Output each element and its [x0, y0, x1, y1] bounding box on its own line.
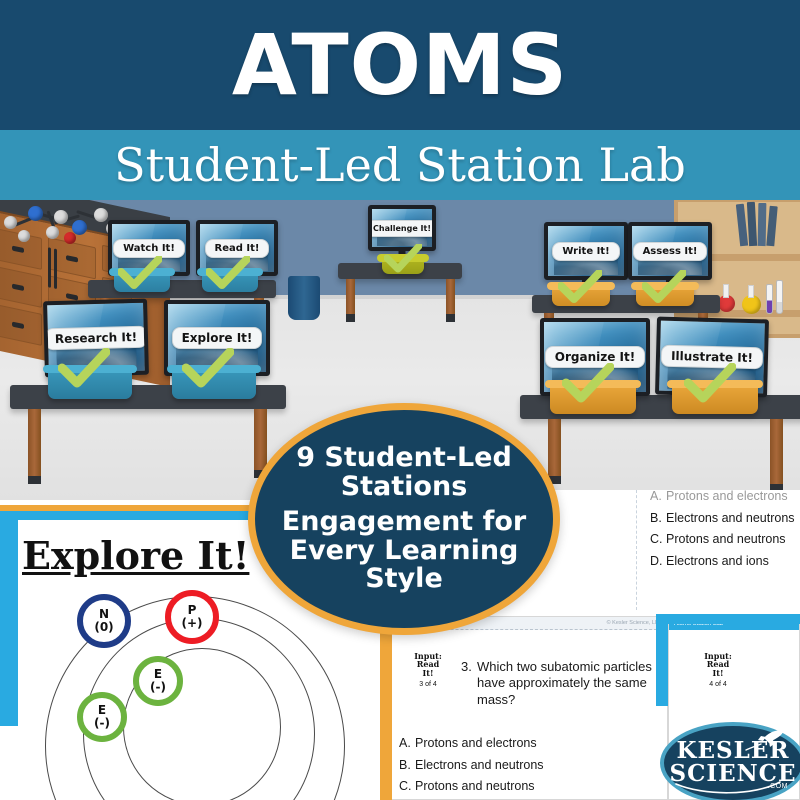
blue-accent-bar	[656, 614, 800, 624]
station-label: Challenge It!	[368, 220, 436, 237]
promo-badge: 9 Student-Led Stations Engagement for Ev…	[248, 403, 560, 635]
choice-row: A.Protons and electrons	[399, 733, 544, 755]
choices-list: A.Protons and electrons B.Electrons and …	[399, 733, 544, 800]
station-seal-badge: Input: Read It! 3 of 4	[397, 639, 459, 701]
seal-count: 3 of 4	[419, 681, 437, 688]
choice-row: B.Electrons and neutrons	[650, 508, 795, 530]
badge-line-1: 9 Student-Led Stations	[255, 444, 553, 501]
checkmark-icon	[684, 363, 736, 405]
checkmark-icon	[58, 348, 110, 390]
page-title: ATOMS	[232, 23, 568, 107]
badge-line-2: Engagement for Every Learning Style	[255, 508, 553, 594]
test-tube-purple	[766, 284, 773, 314]
particle-electron-1: E (-)	[133, 656, 183, 706]
choice-row: B.Electrons and neutrons	[399, 755, 544, 777]
particle-electron-2: E (-)	[77, 692, 127, 742]
header-subtitle-band: Student-Led Station Lab	[0, 130, 800, 200]
particle-proton: P (+)	[165, 590, 219, 644]
particle-neutron: N (0)	[77, 594, 131, 648]
station-label: Read It!	[205, 239, 270, 258]
choice-row: A.Protons and electrons	[650, 490, 795, 508]
doc-copyright: © Kesler Science, LLC	[607, 620, 662, 626]
station-seal-badge: Input: Read It! 4 of 4	[687, 639, 749, 701]
trash-can	[288, 276, 320, 320]
seal-count: 4 of 4	[709, 681, 727, 688]
choices-list: A.Protons and electrons B.Electrons and …	[650, 490, 795, 572]
station-label: Explore It!	[172, 327, 263, 349]
checkmark-icon	[642, 270, 686, 304]
question-text: Which two subatomic particles have appro…	[477, 659, 655, 708]
choice-row: C.Protons and neutrons	[399, 776, 544, 798]
kesler-science-logo: KESLER SCIENCE .COM	[660, 722, 800, 800]
station-label: Research It!	[45, 326, 148, 351]
checkmark-icon	[562, 363, 614, 405]
checkmark-icon	[182, 348, 234, 390]
question-card: Station Lab © Kesler Science, LLC Input:…	[390, 616, 668, 800]
choice-row: C.Protons and neutrons	[650, 529, 795, 551]
station-label: Assess It!	[633, 242, 708, 261]
question-number: 3.	[461, 659, 472, 674]
station-label: Watch It!	[113, 239, 185, 258]
choice-row: D.Electrons and ions	[650, 551, 795, 573]
atom-diagram: N (0) P (+) E (-) E (-)	[35, 586, 365, 800]
worksheet-side-rail	[0, 511, 18, 726]
page-subtitle: Student-Led Station Lab	[114, 142, 686, 188]
worksheet-title: Explore It!	[22, 533, 249, 578]
station-label: Write It!	[552, 242, 619, 261]
blue-accent-rail	[656, 614, 668, 706]
checkmark-icon	[206, 256, 250, 290]
checkmark-icon	[558, 270, 602, 304]
checkmark-icon	[384, 244, 422, 274]
logo-swoosh	[674, 780, 784, 796]
header-title-band: ATOMS	[0, 0, 800, 130]
test-tube-clear	[776, 280, 783, 314]
checkmark-icon	[118, 256, 162, 290]
